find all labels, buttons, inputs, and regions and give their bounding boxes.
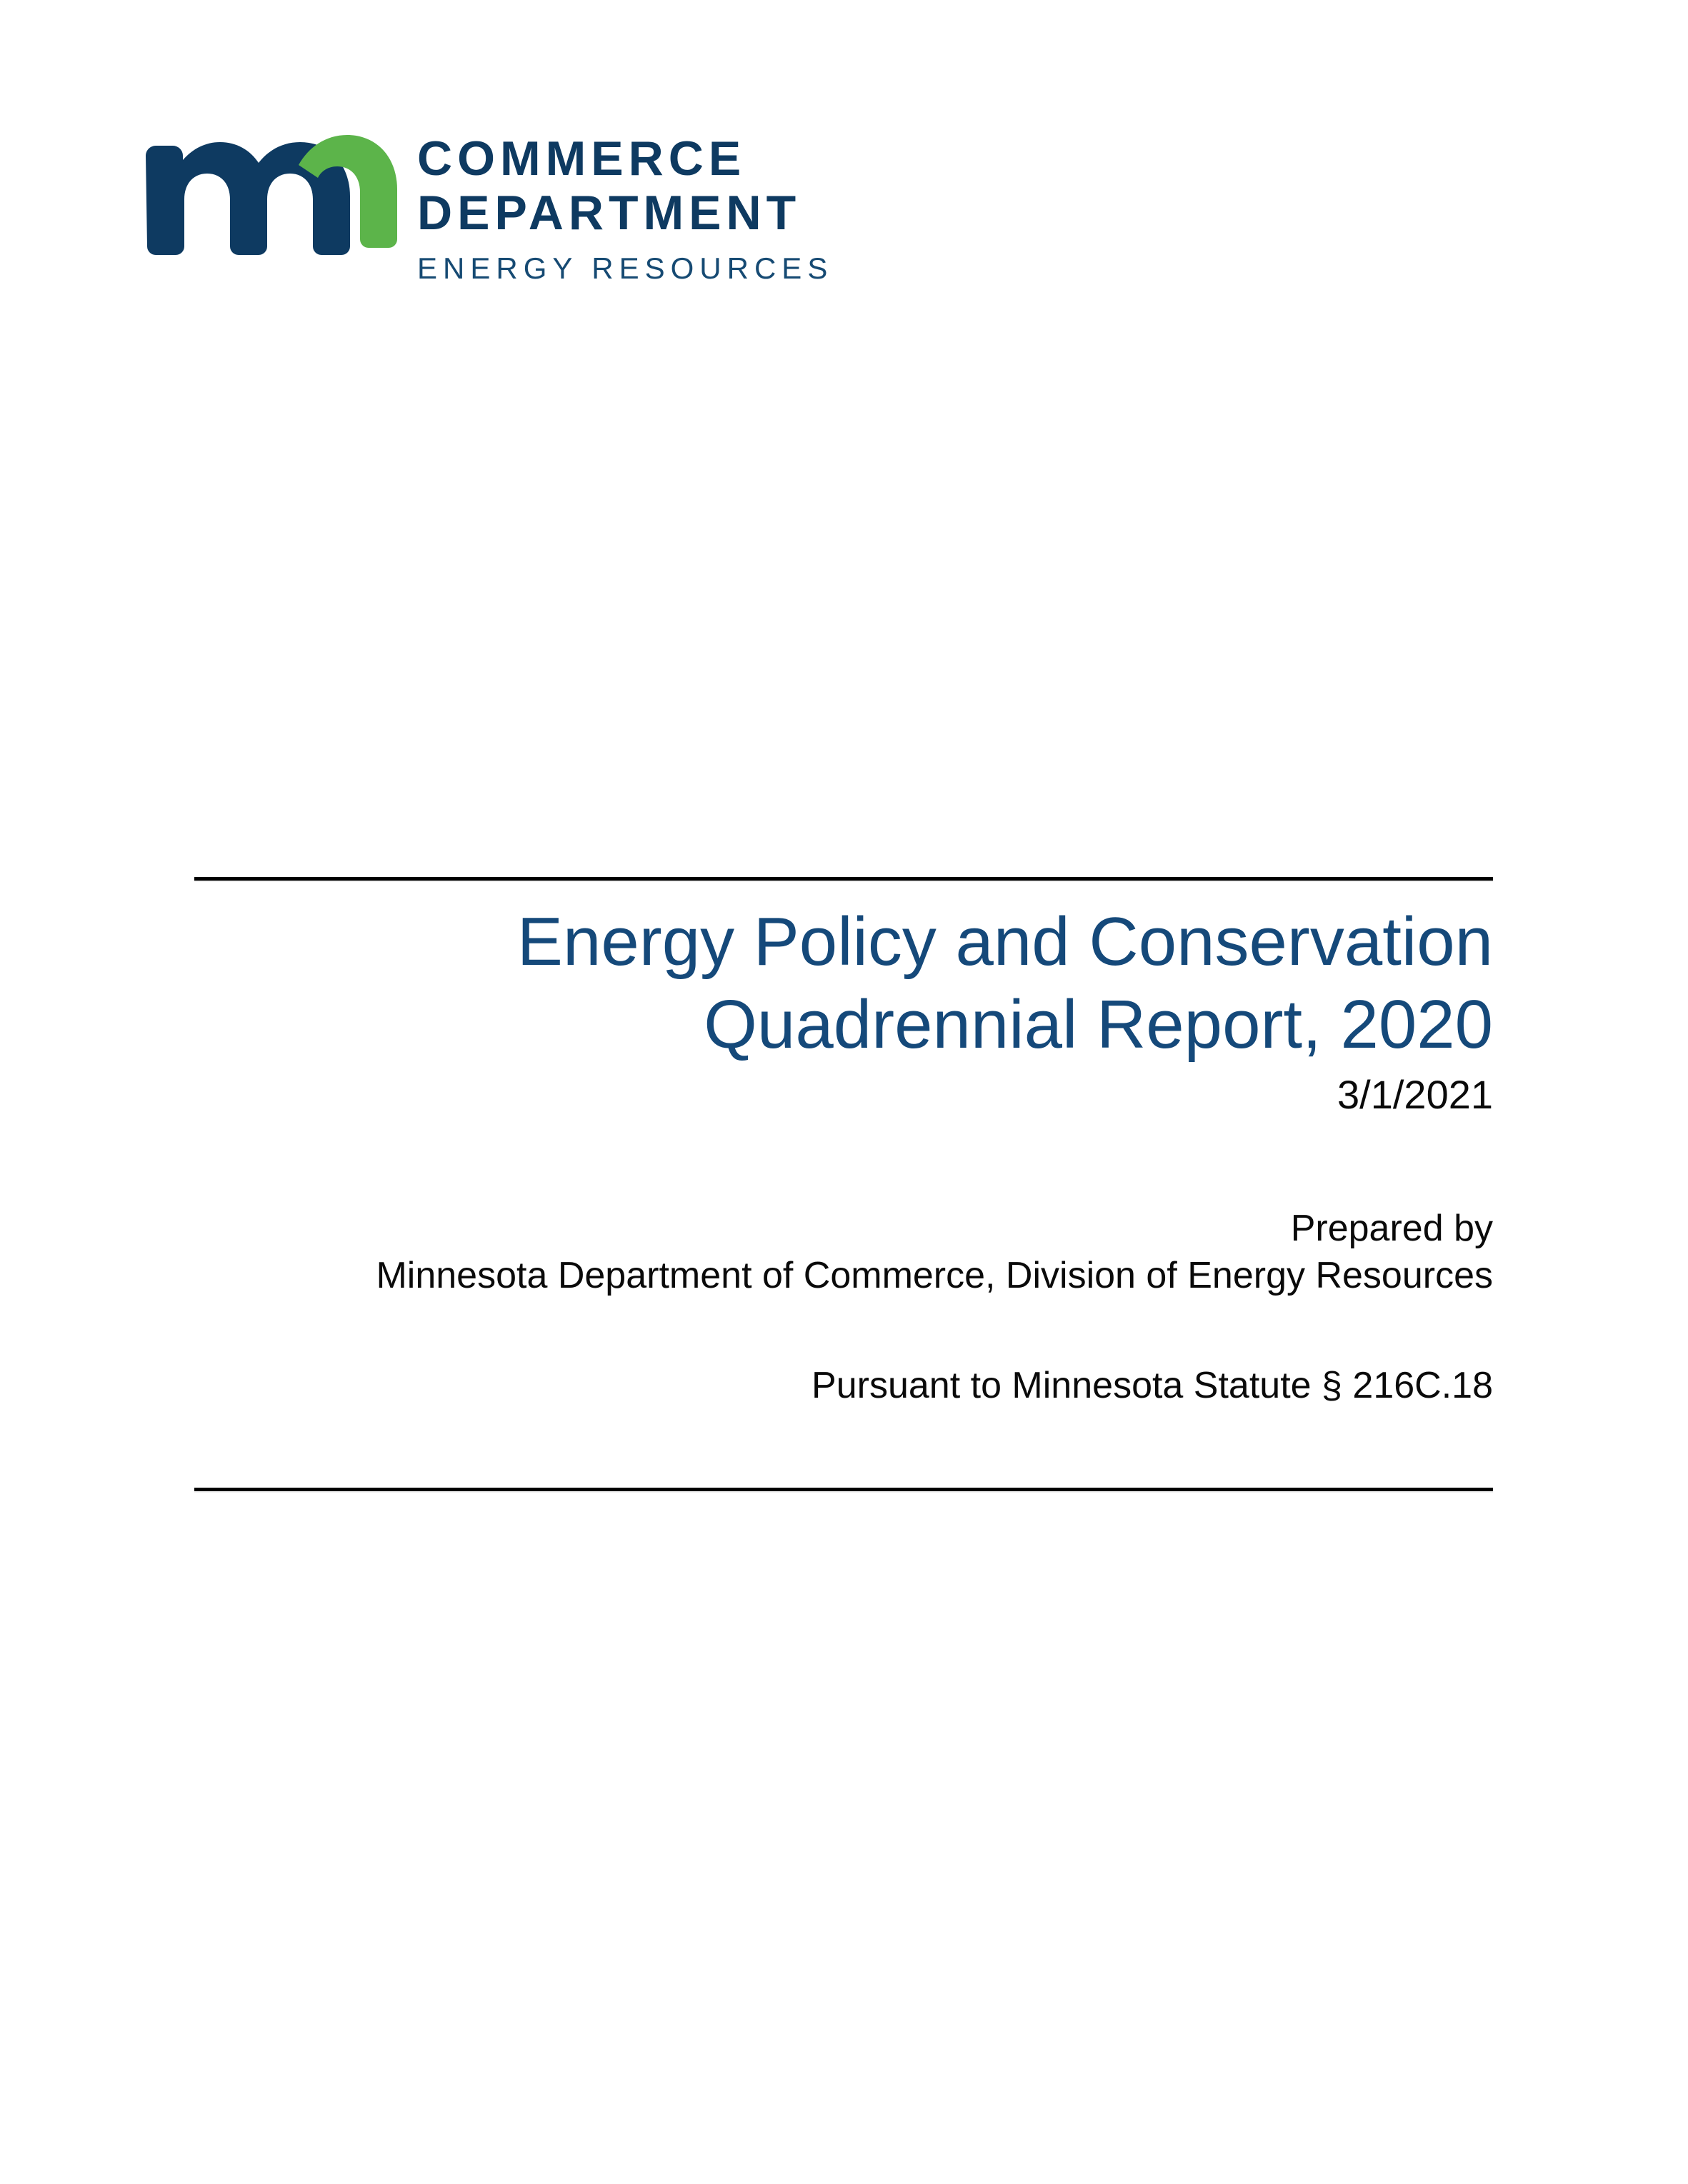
statute-citation: Pursuant to Minnesota Statute § 216C.18 bbox=[194, 1362, 1493, 1409]
wordmark-energy-resources: ENERGY RESOURCES bbox=[417, 251, 833, 286]
report-date: 3/1/2021 bbox=[194, 1071, 1493, 1119]
page-title: Energy Policy and Conservation Quadrenni… bbox=[194, 901, 1493, 1066]
agency-logo: COMMERCE DEPARTMENT ENERGY RESOURCES bbox=[140, 120, 833, 286]
wordmark-department: DEPARTMENT bbox=[417, 186, 801, 240]
title-bottom-rule-wrap bbox=[194, 1488, 1493, 1493]
page-title-line-2: Quadrennial Report, 2020 bbox=[704, 986, 1493, 1063]
prepared-by-group: Prepared by Minnesota Department of Comm… bbox=[194, 1205, 1493, 1299]
title-block-content: Energy Policy and Conservation Quadrenni… bbox=[194, 882, 1493, 1441]
document-cover-page: COMMERCE DEPARTMENT ENERGY RESOURCES Ene… bbox=[0, 0, 1688, 2184]
title-block: Energy Policy and Conservation Quadrenni… bbox=[194, 877, 1493, 1493]
prepared-by-organization: Minnesota Department of Commerce, Divisi… bbox=[194, 1252, 1493, 1299]
page-title-line-1: Energy Policy and Conservation bbox=[517, 903, 1493, 980]
title-bottom-rule-shadow bbox=[194, 1491, 1493, 1493]
mn-logo-mark-icon bbox=[140, 120, 397, 256]
prepared-by-label: Prepared by bbox=[194, 1205, 1493, 1252]
agency-wordmark: COMMERCE DEPARTMENT ENERGY RESOURCES bbox=[417, 120, 833, 286]
wordmark-commerce: COMMERCE bbox=[417, 131, 746, 186]
